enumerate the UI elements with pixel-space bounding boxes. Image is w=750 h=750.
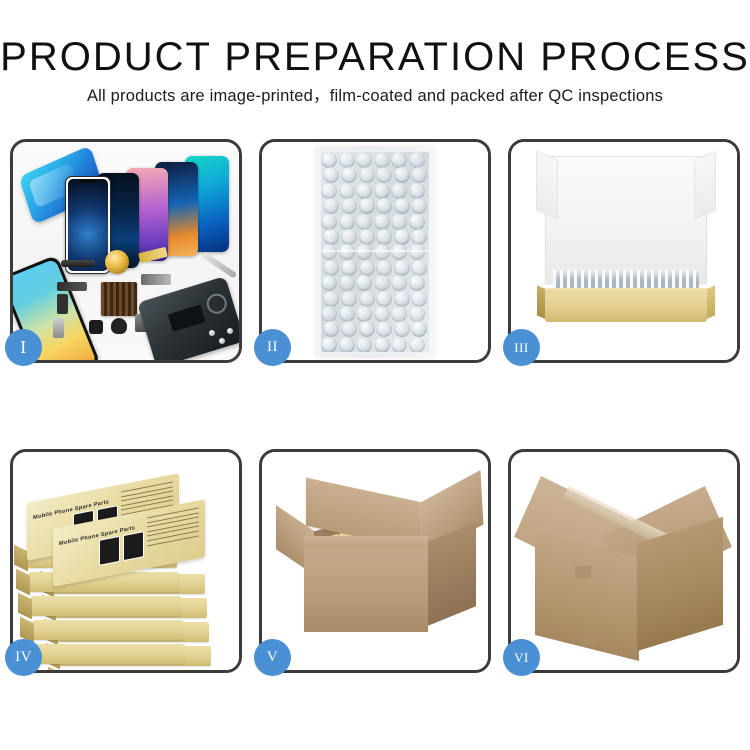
bubble — [411, 321, 427, 337]
bubble — [374, 183, 390, 199]
loudspeaker-part — [111, 318, 127, 334]
step-4-image: Mobile Phone Spare Parts Mobile Phone Sp… — [13, 452, 239, 670]
carton-seam-tab — [581, 634, 597, 646]
bubble — [323, 198, 339, 214]
notch-icon — [80, 179, 96, 183]
step-panel-6: VI — [508, 449, 740, 673]
box-lid-open — [545, 156, 707, 284]
bubble — [339, 275, 355, 291]
earpiece-speaker-part — [61, 260, 95, 267]
bubble — [321, 306, 337, 322]
step-2-image — [262, 142, 488, 360]
bubble — [321, 337, 337, 352]
bubble — [391, 152, 407, 168]
vibration-motor-part — [105, 250, 129, 274]
bubble — [341, 167, 357, 183]
step-1-image — [13, 142, 239, 360]
step-badge-3: III — [503, 329, 540, 366]
carton-hand-hole — [575, 566, 591, 578]
bubble — [356, 275, 372, 291]
step-5-image — [262, 452, 488, 670]
step-badge-2: II — [254, 329, 291, 366]
bubble — [394, 229, 410, 245]
bubble — [359, 198, 375, 214]
bubble — [321, 244, 337, 260]
bubble — [374, 275, 390, 291]
bubble — [391, 244, 407, 260]
box-spec-lines — [147, 507, 199, 553]
product-preparation-infographic: PRODUCT PREPARATION PROCESS All products… — [0, 0, 750, 750]
kraft-box — [31, 596, 181, 616]
bubble — [359, 229, 375, 245]
box-art-phone — [99, 536, 120, 566]
bubble — [341, 291, 357, 307]
bubble — [411, 198, 427, 214]
bubble — [341, 321, 357, 337]
bubble — [341, 229, 357, 245]
bubble — [321, 214, 337, 230]
bubble — [391, 183, 407, 199]
bubble — [321, 152, 337, 168]
bubble — [339, 152, 355, 168]
wrap-seam — [321, 250, 429, 252]
bubble — [374, 337, 390, 352]
bubble — [323, 229, 339, 245]
bubble — [356, 337, 372, 352]
bubble — [394, 260, 410, 276]
step-6-image — [511, 452, 737, 670]
bubble — [339, 244, 355, 260]
bubble — [323, 291, 339, 307]
box-front-panel — [545, 292, 707, 322]
carton-right-face — [428, 522, 476, 625]
bubble — [411, 291, 427, 307]
bubble — [394, 291, 410, 307]
kraft-box-side — [16, 569, 30, 596]
bubble — [376, 198, 392, 214]
bubble — [359, 291, 375, 307]
bubble — [391, 275, 407, 291]
bubble — [411, 167, 427, 183]
step-panel-4: Mobile Phone Spare Parts Mobile Phone Sp… — [10, 449, 242, 673]
bubble — [374, 152, 390, 168]
bubble — [374, 214, 390, 230]
screw-part — [227, 328, 233, 334]
bubble — [341, 260, 357, 276]
bubble — [339, 337, 355, 352]
step-badge-6: VI — [503, 639, 540, 676]
bubble — [376, 321, 392, 337]
bubble — [411, 260, 427, 276]
step-panel-3: III — [508, 139, 740, 363]
bubble — [374, 244, 390, 260]
carton-front-face — [304, 548, 428, 632]
phone-mainboard-part — [137, 276, 239, 360]
bubble — [376, 167, 392, 183]
step-3-image — [511, 142, 737, 360]
bubble — [391, 337, 407, 352]
sim-tray-part — [53, 318, 64, 338]
side-button-flex-part — [57, 294, 68, 314]
bubble — [323, 167, 339, 183]
bubble — [339, 183, 355, 199]
bubble — [411, 229, 427, 245]
bubble — [391, 306, 407, 322]
bubble — [339, 214, 355, 230]
screw-part — [209, 330, 215, 336]
step-panel-2: II — [259, 139, 491, 363]
box-art-phone — [123, 531, 144, 561]
bubble — [359, 321, 375, 337]
step-badge-4: IV — [5, 639, 42, 676]
step-badge-1: I — [5, 329, 42, 366]
step-panel-5: V — [259, 449, 491, 673]
step-panel-1: I — [10, 139, 242, 363]
contents-highlight — [553, 270, 699, 280]
bubble — [409, 275, 425, 291]
bubble — [356, 152, 372, 168]
bubble-wrap-sleeve — [315, 146, 435, 358]
bubble — [341, 198, 357, 214]
bubble-field — [321, 152, 429, 352]
bubble — [409, 306, 425, 322]
speaker-mesh-part — [101, 282, 137, 316]
bubble — [339, 306, 355, 322]
step-badge-5: V — [254, 639, 291, 676]
bubble — [409, 337, 425, 352]
kraft-box-side — [14, 545, 28, 572]
kraft-box — [33, 620, 183, 640]
bubble — [376, 291, 392, 307]
bubble — [356, 183, 372, 199]
screw-part — [219, 338, 225, 344]
bubble — [359, 167, 375, 183]
bubble — [323, 260, 339, 276]
bubble — [376, 260, 392, 276]
bubble — [321, 183, 337, 199]
bubble — [409, 244, 425, 260]
bubble — [376, 229, 392, 245]
kraft-box-side — [18, 593, 32, 620]
bubble — [391, 214, 407, 230]
bubble — [359, 260, 375, 276]
flex-cable-grey-part — [141, 274, 171, 285]
screen-inner — [68, 179, 108, 271]
flex-cable-black-part — [57, 282, 87, 291]
steps-grid: I II III — [0, 0, 750, 750]
bubble — [394, 167, 410, 183]
bubble — [323, 321, 339, 337]
kraft-box — [35, 644, 185, 664]
bubble — [374, 306, 390, 322]
bubble — [394, 321, 410, 337]
bubble — [321, 275, 337, 291]
bubble — [409, 152, 425, 168]
bubble — [356, 306, 372, 322]
bubble — [409, 183, 425, 199]
bubble — [394, 198, 410, 214]
camera-module-part — [89, 320, 103, 334]
bubble — [409, 214, 425, 230]
bubble — [356, 244, 372, 260]
bubble — [356, 214, 372, 230]
